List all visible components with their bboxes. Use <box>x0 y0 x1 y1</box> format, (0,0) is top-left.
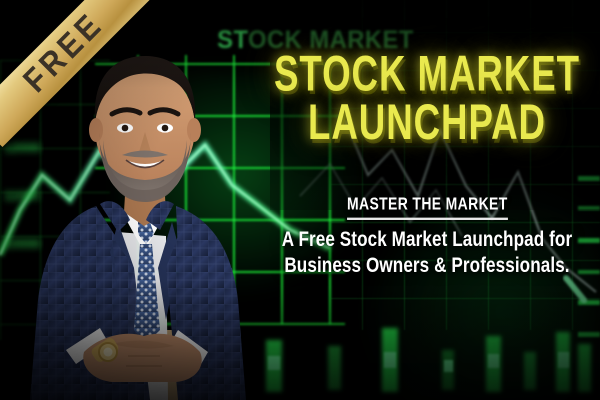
page-title: STOCK MARKET LAUNCHPAD <box>272 52 582 147</box>
tagline-line-1: A Free Stock Market Launchpad for <box>270 227 584 253</box>
subtitle-block: MASTER THE MARKET A Free Stock Market La… <box>262 196 592 275</box>
promo-poster: 12000 11000 10000 <box>0 0 600 400</box>
tagline-line-2: Business Owners & Professionals. <box>270 253 584 279</box>
tagline: A Free Stock Market Launchpad for Busine… <box>270 227 584 280</box>
kicker-text: MASTER THE MARKET <box>347 194 508 220</box>
headline-line-1: STOCK MARKET <box>272 52 582 98</box>
headline-line-2: LAUNCHPAD <box>272 101 582 147</box>
